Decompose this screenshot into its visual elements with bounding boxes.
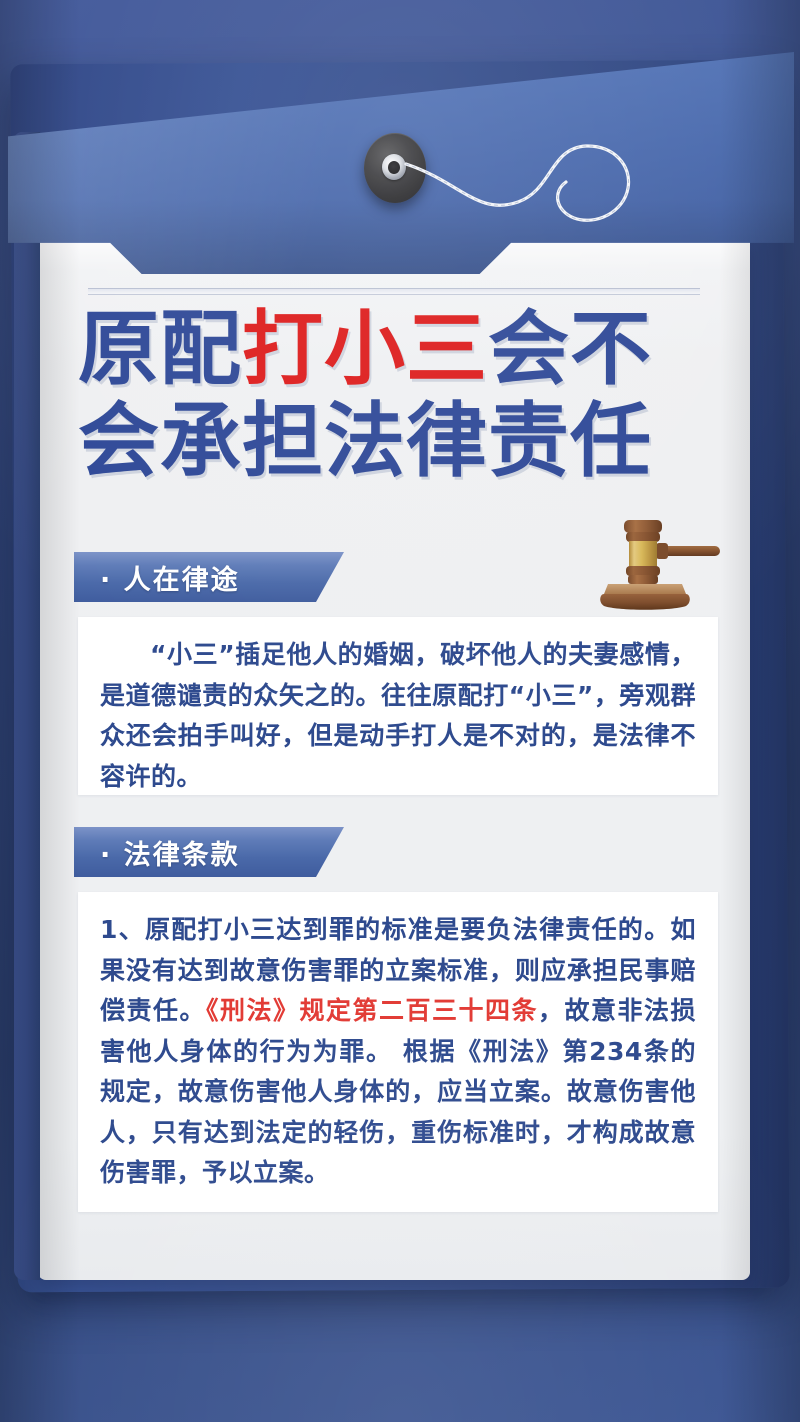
title-segment-red: 打小三 [242,303,488,397]
section-body-card-2: 1、原配打小三达到罪的标准是要负法律责任的。如果没有达到故意伤害罪的立案标准，则… [78,892,718,1212]
section-header-2-label: · 法律条款 [74,833,240,872]
string-tie-eyelet-icon [382,154,406,180]
title-segment-pre: 原配 [78,303,242,397]
page-title: 原配打小三会不 会承担法律责任 [78,305,718,488]
folder-spine [14,132,40,1280]
section-header-1[interactable]: · 人在律途 [74,552,344,602]
page-title-line-1: 原配打小三会不 [78,305,718,397]
section-header-1-label: · 人在律途 [74,558,240,597]
section-body-card-1: “小三”插足他人的婚姻，破坏他人的夫妻感情，是道德谴责的众矢之的。往往原配打“小… [78,617,718,795]
section-body-text-1: “小三”插足他人的婚姻，破坏他人的夫妻感情，是道德谴责的众矢之的。往往原配打“小… [100,635,696,797]
gavel-icon [586,504,734,616]
section-header-2[interactable]: · 法律条款 [74,827,344,877]
section-body-text-2: 1、原配打小三达到罪的标准是要负法律责任的。如果没有达到故意伤害罪的立案标准，则… [100,910,696,1194]
double-rule-divider-icon [88,288,700,295]
section-body-text-2-highlight: 《刑法》规定第二百三十四条 [206,996,538,1025]
title-segment-post: 会不 [488,303,652,397]
poster-root: 原配打小三会不 会承担法律责任 [0,0,800,1422]
page-title-line-2: 会承担法律责任 [78,397,718,489]
